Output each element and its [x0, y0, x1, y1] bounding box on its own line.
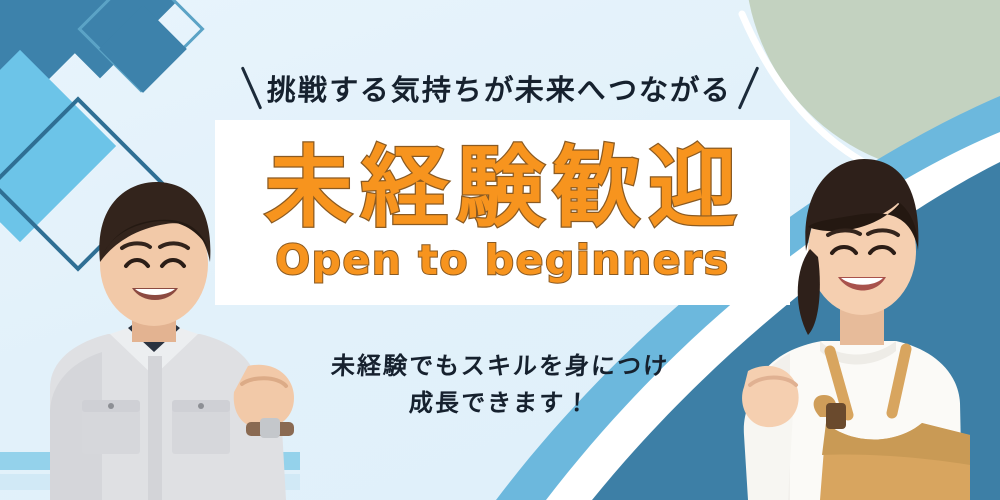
headline-japanese: 未経験歓迎 — [264, 144, 744, 232]
slash-left-icon — [241, 66, 262, 109]
catchcopy: 挑戦する気持ちが未来へつながる — [0, 62, 1000, 114]
catchcopy-text: 挑戦する気持ちが未来へつながる — [266, 67, 733, 109]
subcopy-line-2: 成長できます！ — [0, 385, 1000, 422]
recruit-banner: 挑戦する気持ちが未来へつながる 未経験歓迎 Open to beginners … — [0, 0, 1000, 500]
slash-right-icon — [737, 66, 758, 109]
subcopy: 未経験でもスキルを身につけ 成長できます！ — [0, 348, 1000, 422]
subcopy-line-1: 未経験でもスキルを身につけ — [0, 348, 1000, 385]
headline-panel: 未経験歓迎 Open to beginners — [215, 120, 790, 305]
headline-english: Open to beginners — [275, 240, 729, 281]
